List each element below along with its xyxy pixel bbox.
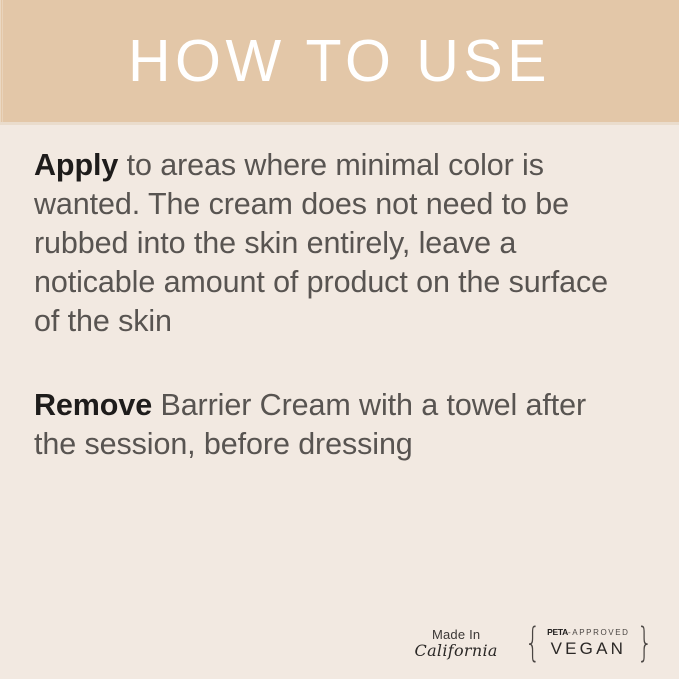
how-to-use-panel: HOW TO USE Apply to areas where minimal … — [0, 0, 679, 679]
vegan-label: VEGAN — [547, 639, 629, 659]
page-title: HOW TO USE — [0, 26, 679, 96]
peta-approved-vegan-badge: { PETA-APPROVED VEGAN } — [520, 624, 657, 662]
made-in-california-badge: Made In California — [415, 628, 498, 659]
instruction-lead-remove: Remove — [34, 388, 152, 422]
peta-approved-line: PETA-APPROVED — [547, 627, 629, 637]
peta-logotype: PETA — [547, 627, 568, 637]
california-label: California — [415, 643, 498, 659]
footer-badges: Made In California { PETA-APPROVED VEGAN… — [0, 607, 679, 679]
instruction-paragraph-apply: Apply to areas where minimal color is wa… — [34, 146, 614, 341]
approved-label: -APPROVED — [568, 628, 630, 637]
instructions-body: Apply to areas where minimal color is wa… — [34, 146, 614, 464]
made-in-label: Made In — [415, 628, 498, 641]
vegan-badge-text: PETA-APPROVED VEGAN — [545, 627, 631, 659]
header-band: HOW TO USE — [0, 0, 679, 122]
instruction-paragraph-remove: Remove Barrier Cream with a towel after … — [34, 386, 614, 464]
left-brace-icon: { — [525, 624, 541, 662]
right-brace-icon: } — [636, 624, 652, 662]
instruction-lead-apply: Apply — [34, 148, 118, 182]
instruction-text-apply: to areas where minimal color is wanted. … — [34, 148, 608, 338]
